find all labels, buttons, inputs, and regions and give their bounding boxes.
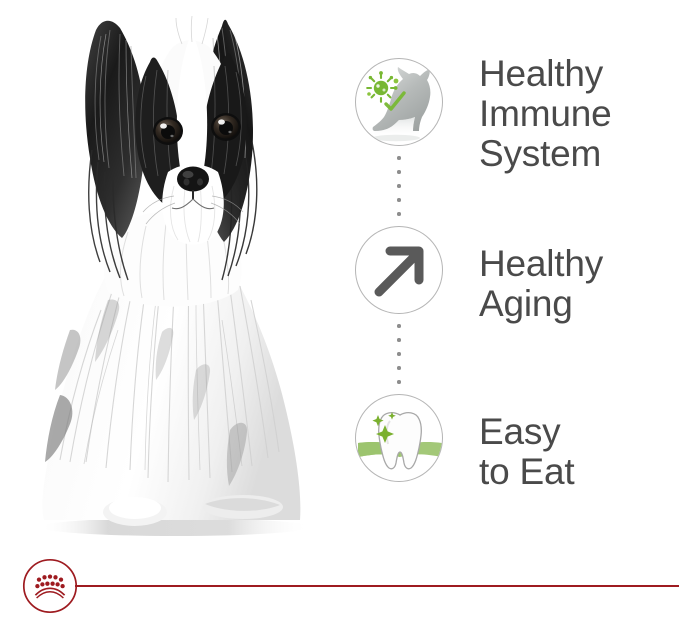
benefit-panel: Healthy Immune System Healthy Aging (0, 0, 679, 621)
papillon-dog-photo (0, 0, 345, 560)
royal-canin-logo (0, 552, 679, 621)
dog-left-eye (153, 117, 183, 145)
dog-illustration (0, 0, 345, 560)
dog-immune-shield-icon (355, 58, 443, 146)
feature-label: Healthy Aging (479, 244, 603, 324)
feature-label: Easy to Eat (479, 412, 574, 492)
feature-item[interactable]: Healthy Aging (355, 226, 675, 394)
crown-of-dots-icon (22, 558, 78, 614)
up-right-arrow-icon (355, 226, 443, 314)
feature-label: Healthy Immune System (479, 54, 611, 174)
dotted-connector (396, 324, 402, 386)
feature-item[interactable]: Healthy Immune System (355, 58, 675, 226)
feature-list: Healthy Immune System Healthy Aging (355, 58, 675, 490)
dog-right-eye (211, 113, 241, 141)
tooth-sparkle-icon (355, 394, 443, 482)
dotted-connector (396, 156, 402, 218)
brand-rule (75, 585, 679, 587)
feature-item[interactable]: Easy to Eat (355, 394, 675, 490)
